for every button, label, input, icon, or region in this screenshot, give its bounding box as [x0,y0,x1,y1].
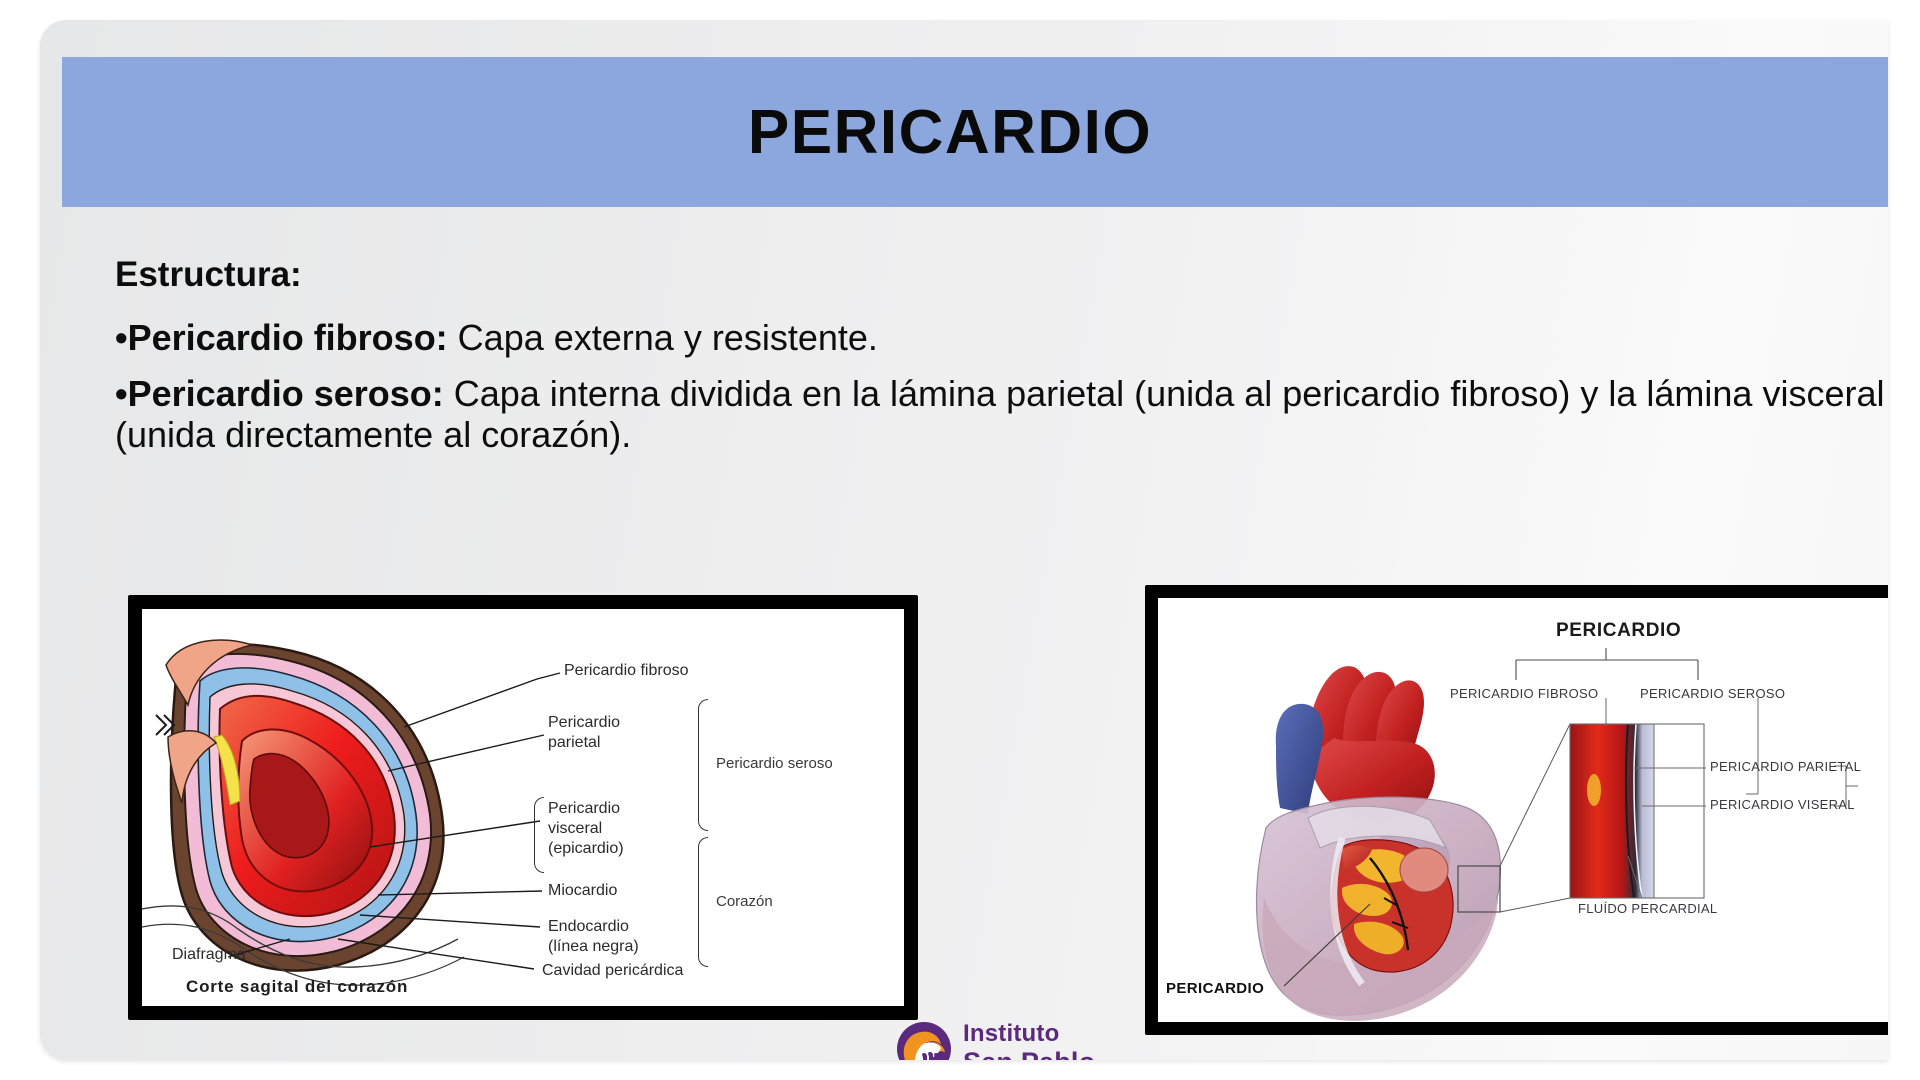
instituto-san-pablo-mark-icon [895,1020,953,1060]
label-cavidad-pericardica: Cavidad pericárdica [542,961,683,981]
zoom-ray-bottom [1500,898,1570,912]
bracket-visceral [534,797,544,873]
superior-vena-cava [1276,704,1323,814]
label-pericardio-parietal-right: PERICARDIO PARIETAL [1710,759,1861,774]
figure-right-frame: PERICARDIO PERICARDIO FIBROSO PERICARDIO… [1145,585,1888,1035]
label-pericardio-parietal-1: Pericardio [548,713,620,733]
slide-canvas: PERICARDIO Estructura: •Pericardio fibro… [40,20,1888,1060]
bullet-pericardio-fibroso: •Pericardio fibroso: Capa externa y resi… [115,318,1888,358]
label-pericardio-visceral-1: Pericardio [548,799,620,819]
label-endocardio-2: (línea negra) [548,937,639,957]
bullet-pericardio-seroso: •Pericardio seroso: Capa interna dividid… [115,374,1888,455]
label-pericardio-visceral-2: visceral [548,819,602,839]
figure-left-caption: Corte sagital del corazón [186,977,408,997]
logo-wordmark: Instituto San Pablo [963,1022,1095,1060]
bracket-pericardio-seroso [698,699,708,831]
bracket-label-pericardio-seroso: Pericardio seroso [716,755,833,772]
atrial-appendage [1400,848,1448,892]
label-pericardio-parietal-2: parietal [548,733,600,753]
label-pericardio-visceral-3: (epicardio) [548,839,624,859]
bullet-marker: • [115,373,128,414]
logo-line-1: Instituto [963,1022,1095,1046]
bullet-term: Pericardio seroso: [128,373,444,414]
leader-fibroso [404,679,537,727]
label-fluido-percardial: FLUÍDO PERCARDIAL [1578,901,1717,916]
label-pericardio-seroso-right: PERICARDIO SEROSO [1640,686,1785,701]
leader-fibroso-tick [537,673,560,679]
bullet-marker: • [115,317,128,358]
label-pericardio-fibroso-right: PERICARDIO FIBROSO [1450,686,1598,701]
label-diafragma: Diafragma [172,945,246,965]
label-miocardio: Miocardio [548,881,617,901]
label-pericardio-main: PERICARDIO [1166,980,1264,997]
zoom-ray-top [1500,724,1570,866]
logo-line-2: San Pablo [963,1049,1095,1060]
figure-left-image: Pericardio fibroso Pericardio parietal P… [142,609,904,1006]
bracket-label-corazon: Corazón [716,893,773,910]
label-pericardio-viseral-right: PERICARDIO VISERAL [1710,797,1855,812]
label-pericardio-fibroso: Pericardio fibroso [564,661,689,681]
bullet-description: Capa externa y resistente. [448,317,878,358]
bullet-term: Pericardio fibroso: [128,317,448,358]
bracket-corazon [698,837,708,967]
figure-right-title: PERICARDIO [1556,620,1681,642]
sagittal-heart-illustration [142,609,904,1006]
figure-right-image: PERICARDIO PERICARDIO FIBROSO PERICARDIO… [1158,598,1888,1022]
slide-title-bar: PERICARDIO [62,57,1888,207]
label-endocardio-1: Endocardio [548,917,629,937]
institution-logo: Instituto San Pablo [895,1020,1095,1060]
structure-heading: Estructura: [115,257,1888,292]
magnified-highlight [1587,774,1601,806]
page-title: PERICARDIO [748,97,1152,168]
figure-left-frame: Pericardio fibroso Pericardio parietal P… [128,595,918,1020]
magnified-layer-strip [1570,724,1654,898]
content-text-block: Estructura: •Pericardio fibroso: Capa ex… [115,257,1888,471]
